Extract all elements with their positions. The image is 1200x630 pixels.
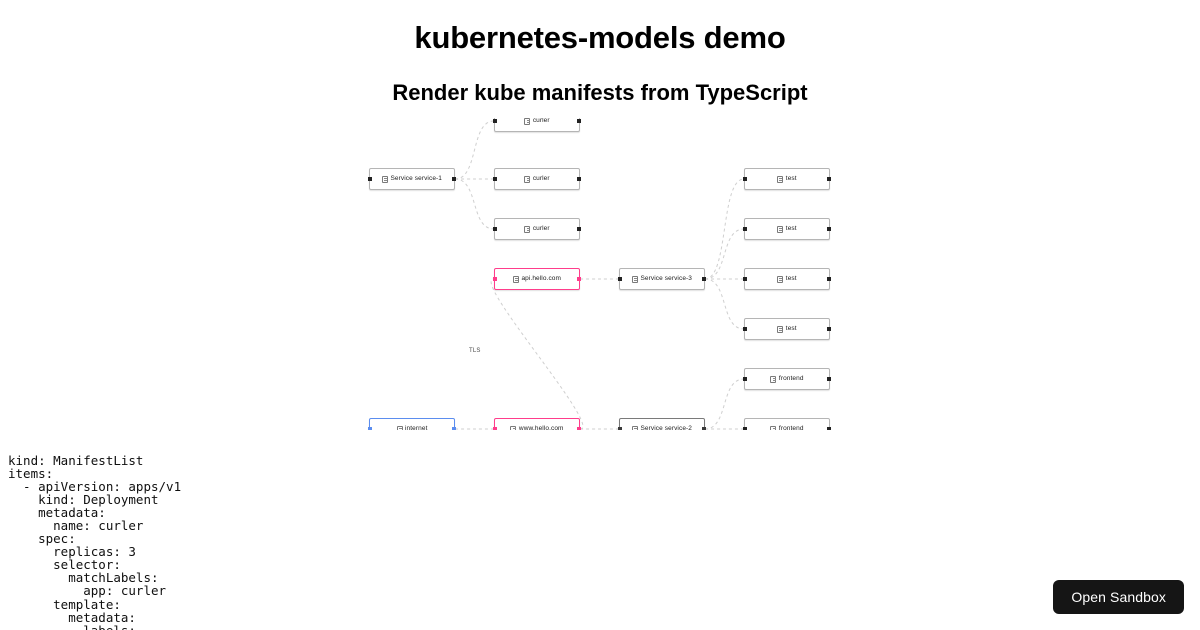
graph-edge-service-1-to-curler-2 bbox=[455, 179, 494, 229]
node-content: curler bbox=[524, 118, 549, 125]
node-handle-left[interactable] bbox=[368, 177, 372, 181]
node-content: api.hello.com bbox=[513, 276, 561, 283]
graph-node-internet[interactable]: internet bbox=[369, 418, 455, 430]
graph-node-curler-1[interactable]: curler bbox=[494, 168, 580, 190]
edge-label-tls: TLS bbox=[468, 348, 482, 354]
graph-edge-service-1-to-curler-0 bbox=[455, 121, 494, 179]
graph-node-service-1[interactable]: Service service-1 bbox=[369, 168, 455, 190]
node-content: curler bbox=[524, 226, 549, 233]
open-sandbox-button[interactable]: Open Sandbox bbox=[1053, 580, 1184, 614]
node-label: test bbox=[786, 176, 797, 183]
node-handle-left[interactable] bbox=[618, 277, 622, 281]
node-content: Service service-3 bbox=[632, 276, 692, 283]
node-content: test bbox=[777, 226, 796, 233]
graph-canvas[interactable]: curlerService service-1curlercurlerapi.h… bbox=[360, 118, 840, 430]
node-handle-left[interactable] bbox=[493, 277, 497, 281]
k8s-resource-icon bbox=[777, 226, 783, 233]
k8s-resource-icon bbox=[770, 376, 776, 383]
node-handle-left[interactable] bbox=[743, 427, 747, 430]
graph-node-api-hello[interactable]: api.hello.com bbox=[494, 268, 580, 290]
node-label: test bbox=[786, 226, 797, 233]
node-label: www.hello.com bbox=[519, 426, 564, 430]
node-handle-right[interactable] bbox=[452, 177, 456, 181]
graph-edge-service-3-to-test-1 bbox=[705, 179, 744, 279]
node-handle-right[interactable] bbox=[827, 427, 831, 430]
graph-node-test-4[interactable]: test bbox=[744, 318, 830, 340]
node-label: Service service-1 bbox=[390, 176, 442, 183]
node-handle-right[interactable] bbox=[702, 427, 706, 430]
node-content: Service service-1 bbox=[382, 176, 442, 183]
k8s-resource-icon bbox=[524, 176, 530, 183]
node-label: test bbox=[786, 326, 797, 333]
node-content: internet bbox=[397, 426, 428, 431]
node-handle-left[interactable] bbox=[618, 427, 622, 430]
k8s-resource-icon bbox=[524, 118, 530, 125]
node-content: Service service-2 bbox=[632, 426, 692, 431]
k8s-resource-icon bbox=[632, 276, 638, 283]
node-handle-right[interactable] bbox=[827, 227, 831, 231]
node-label: test bbox=[786, 276, 797, 283]
node-handle-right[interactable] bbox=[827, 177, 831, 181]
node-handle-right[interactable] bbox=[577, 427, 581, 430]
node-handle-right[interactable] bbox=[577, 177, 581, 181]
page-title: kubernetes-models demo bbox=[0, 20, 1200, 56]
node-handle-left[interactable] bbox=[743, 377, 747, 381]
node-label: frontend bbox=[779, 376, 804, 383]
graph-edge-service-3-to-test-2 bbox=[705, 229, 744, 279]
internet-icon bbox=[397, 426, 403, 431]
node-content: test bbox=[777, 326, 796, 333]
k8s-resource-icon bbox=[777, 326, 783, 333]
node-content: frontend bbox=[770, 376, 803, 383]
node-label: Service service-2 bbox=[640, 426, 692, 430]
node-handle-right[interactable] bbox=[827, 277, 831, 281]
node-handle-right[interactable] bbox=[827, 377, 831, 381]
node-handle-right[interactable] bbox=[827, 327, 831, 331]
graph-viewport[interactable]: curlerService service-1curlercurlerapi.h… bbox=[360, 118, 840, 430]
graph-node-curler-2[interactable]: curler bbox=[494, 218, 580, 240]
graph-node-curler-0[interactable]: curler bbox=[494, 118, 580, 132]
graph-node-www-hello[interactable]: www.hello.com bbox=[494, 418, 580, 430]
node-label: frontend bbox=[779, 426, 804, 430]
page-subtitle: Render kube manifests from TypeScript bbox=[0, 80, 1200, 106]
page-root: kubernetes-models demo Render kube manif… bbox=[0, 0, 1200, 630]
node-handle-left[interactable] bbox=[743, 177, 747, 181]
node-label: api.hello.com bbox=[521, 276, 561, 283]
node-handle-left[interactable] bbox=[493, 427, 497, 430]
node-handle-left[interactable] bbox=[493, 119, 497, 123]
ingress-icon bbox=[513, 276, 519, 283]
graph-edge-service-3-to-test-4 bbox=[705, 279, 744, 329]
k8s-resource-icon bbox=[632, 426, 638, 431]
node-handle-left[interactable] bbox=[493, 177, 497, 181]
graph-edge-www-hello-to-api-hello bbox=[491, 279, 583, 429]
graph-node-test-1[interactable]: test bbox=[744, 168, 830, 190]
node-content: test bbox=[777, 276, 796, 283]
graph-node-frontend-2[interactable]: frontend bbox=[744, 418, 830, 430]
node-handle-right[interactable] bbox=[577, 119, 581, 123]
graph-node-service-3[interactable]: Service service-3 bbox=[619, 268, 705, 290]
graph-node-frontend-1[interactable]: frontend bbox=[744, 368, 830, 390]
node-handle-left[interactable] bbox=[743, 277, 747, 281]
ingress-icon bbox=[510, 426, 516, 431]
node-label: Service service-3 bbox=[640, 276, 692, 283]
k8s-resource-icon bbox=[382, 176, 388, 183]
k8s-resource-icon bbox=[777, 276, 783, 283]
node-handle-right[interactable] bbox=[577, 277, 581, 281]
node-handle-left[interactable] bbox=[743, 227, 747, 231]
node-label: curler bbox=[533, 118, 550, 124]
node-handle-left[interactable] bbox=[743, 327, 747, 331]
node-handle-right[interactable] bbox=[702, 277, 706, 281]
graph-node-service-2[interactable]: Service service-2 bbox=[619, 418, 705, 430]
node-handle-right[interactable] bbox=[577, 227, 581, 231]
yaml-output: kind: ManifestList items: - apiVersion: … bbox=[8, 454, 528, 630]
node-content: test bbox=[777, 176, 796, 183]
k8s-resource-icon bbox=[770, 426, 776, 431]
k8s-resource-icon bbox=[777, 176, 783, 183]
node-content: curler bbox=[524, 176, 549, 183]
node-content: www.hello.com bbox=[510, 426, 563, 431]
graph-node-test-3[interactable]: test bbox=[744, 268, 830, 290]
graph-edge-service-2-to-frontend-1 bbox=[705, 379, 744, 429]
graph-node-test-2[interactable]: test bbox=[744, 218, 830, 240]
node-handle-right[interactable] bbox=[452, 427, 456, 430]
node-label: curler bbox=[533, 226, 550, 233]
node-label: internet bbox=[405, 426, 427, 430]
node-handle-left[interactable] bbox=[493, 227, 497, 231]
node-label: curler bbox=[533, 176, 550, 183]
node-handle-left[interactable] bbox=[368, 427, 372, 430]
node-content: frontend bbox=[770, 426, 803, 431]
k8s-resource-icon bbox=[524, 226, 530, 233]
